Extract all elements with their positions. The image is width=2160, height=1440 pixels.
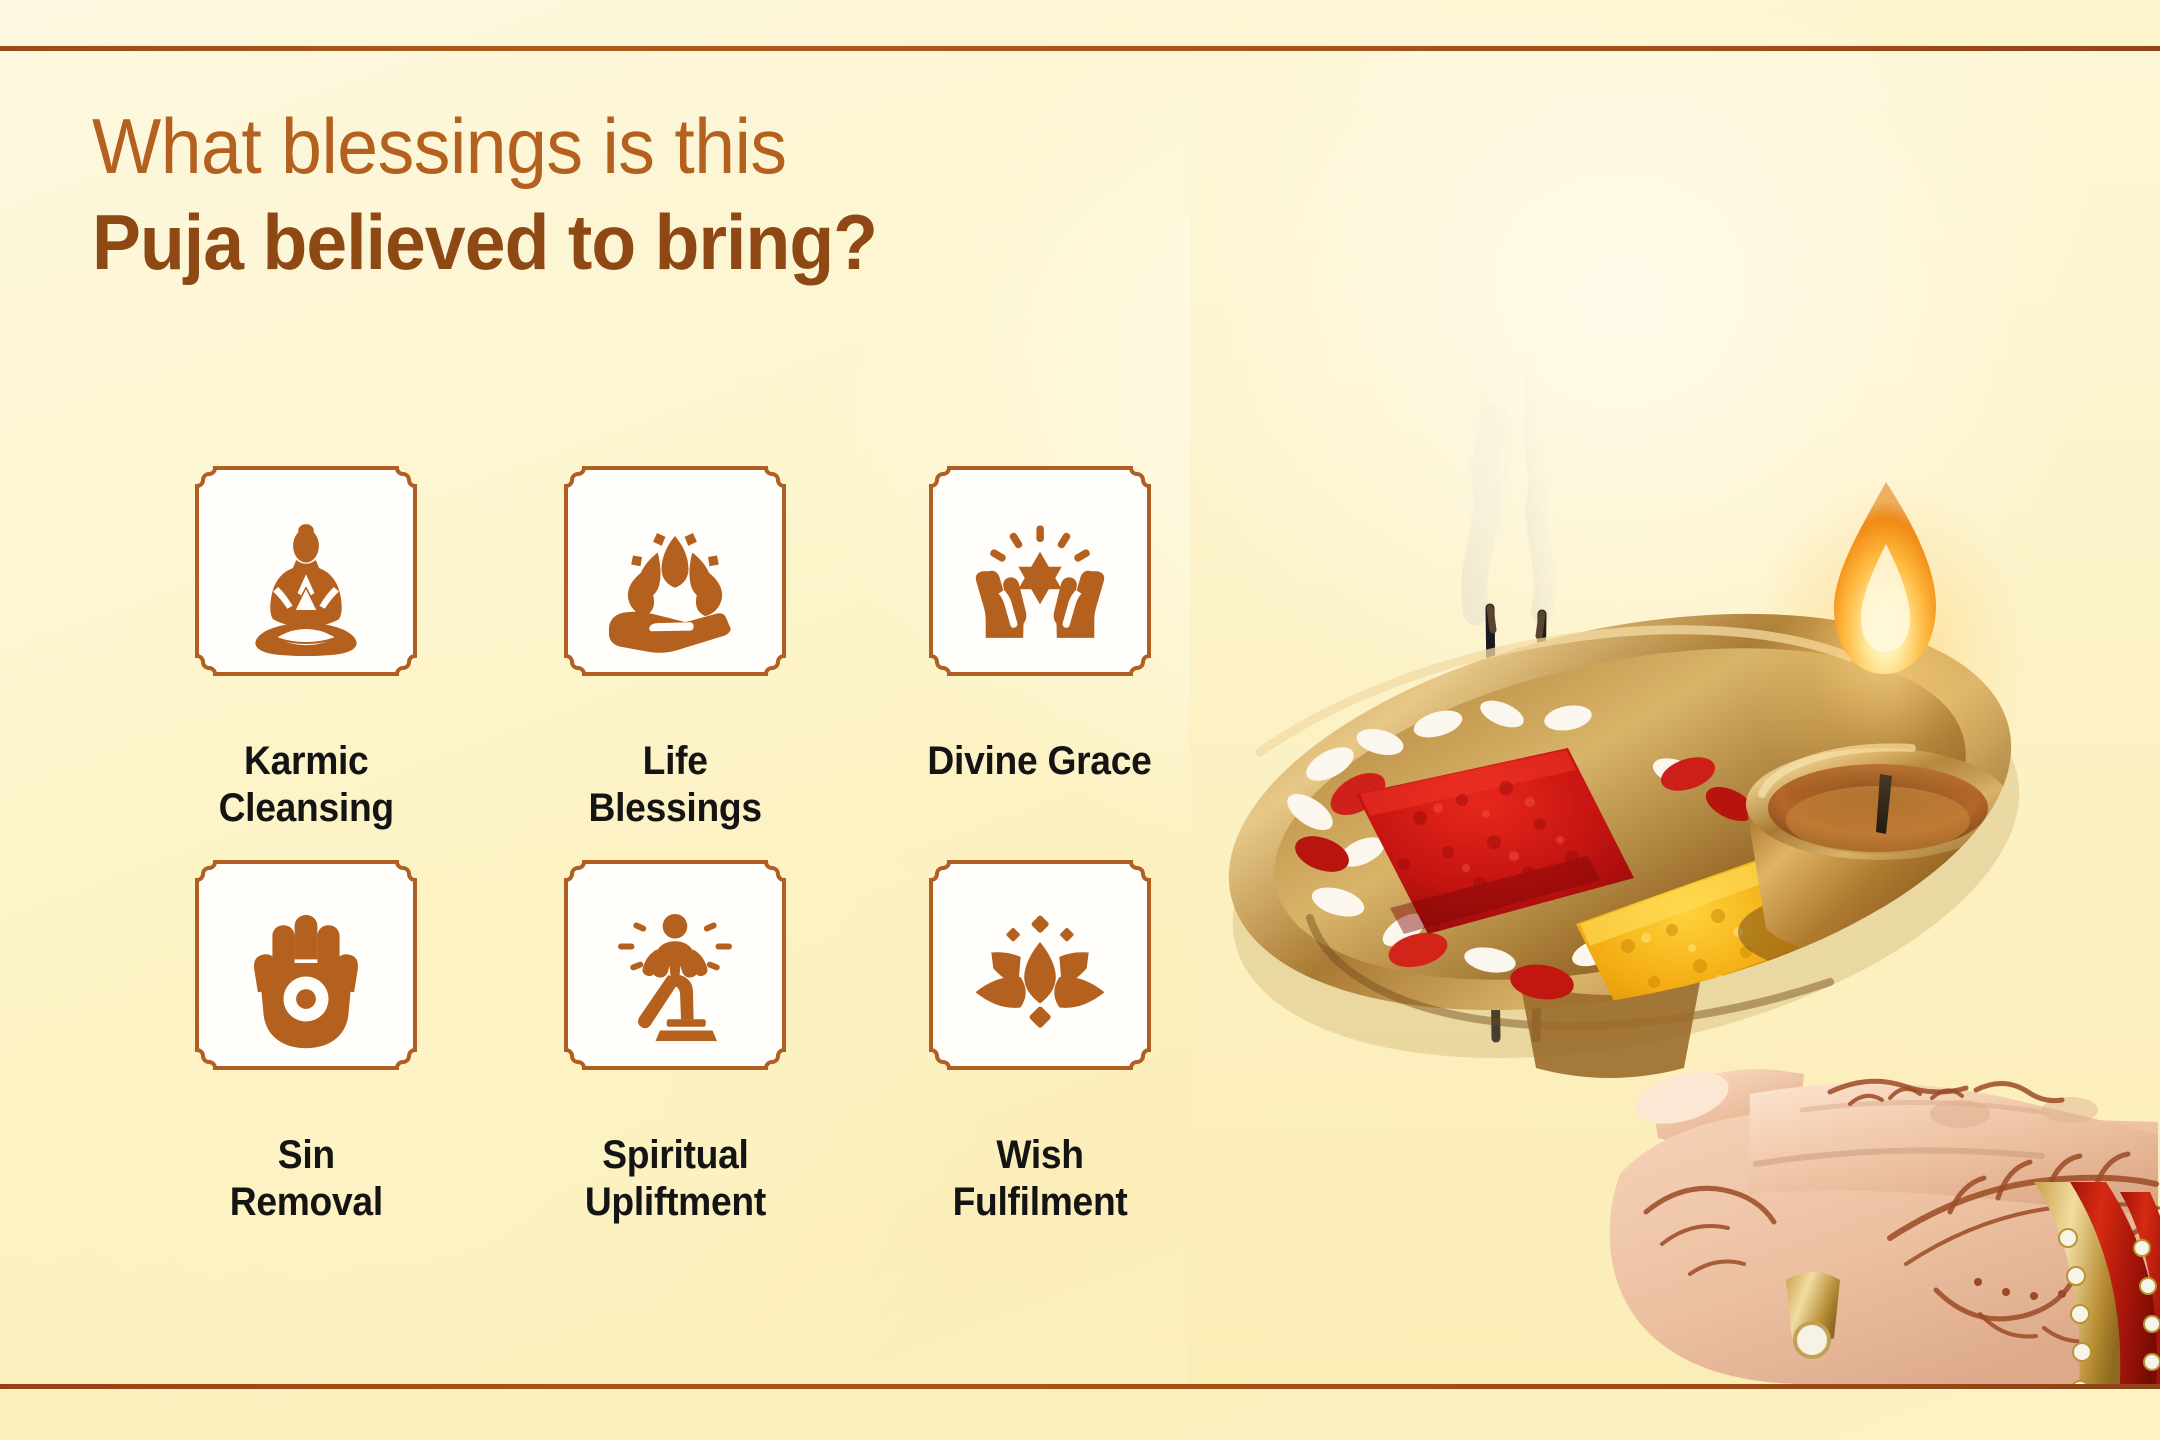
blessing-card[interactable] [548,856,802,1106]
blessing-item-wish-fulfilment[interactable]: Wish Fulfilment [857,856,1222,1226]
blessing-label-line-1: Sin [230,1132,383,1179]
blessing-label: Karmic Cleansing [219,738,394,832]
lotus-sparkle-icon [965,906,1115,1056]
blessing-item-divine-grace[interactable]: Divine Grace [857,462,1222,832]
blessing-item-spiritual-upliftment[interactable]: Spiritual Upliftment [493,856,858,1226]
blessing-label-line-2: Cleansing [219,785,394,832]
meditating-person-icon [231,512,381,662]
blessing-label-line-1: Wish [952,1132,1127,1179]
incense-smoke [1474,300,1545,612]
blessing-card[interactable] [913,462,1167,712]
hamsa-hand-icon [231,906,381,1056]
blessing-item-karmic-cleansing[interactable]: Karmic Cleansing [124,462,489,832]
blessing-item-life-blessings[interactable]: Life Blessings [493,462,858,832]
blessing-label-line-2: Removal [230,1179,383,1226]
blessing-label-line-1: Life [588,738,761,785]
heading-line-1: What blessings is this [92,102,1107,190]
blessing-label-line-2: Upliftment [584,1179,765,1226]
infographic-canvas: What blessings is this Puja believed to … [0,0,2160,1440]
bottom-divider-rule [0,1384,2160,1389]
blessing-label: Life Blessings [588,738,761,832]
page-title: What blessings is this Puja believed to … [92,102,1172,288]
blessing-item-sin-removal[interactable]: Sin Removal [124,856,489,1226]
blessing-card[interactable] [179,856,433,1106]
blessing-card[interactable] [913,856,1167,1106]
blessing-label-line-1: Divine Grace [928,738,1152,785]
hand-holding-thali [1610,1063,2160,1384]
diya-flame [1746,476,2026,836]
blessing-card[interactable] [179,462,433,712]
blessing-label-line-1: Spiritual [584,1132,765,1179]
blessing-label-line-1: Karmic [219,738,394,785]
blessing-label: Wish Fulfilment [952,1132,1127,1226]
blessing-label: Spiritual Upliftment [584,1132,765,1226]
blessing-label: Sin Removal [230,1132,383,1226]
puja-thali-photo [1190,52,2160,1384]
blessings-grid: Karmic Cleansing [92,462,1222,1226]
blessings-row-1: Karmic Cleansing [92,462,1222,832]
radiant-person-pedestal-icon [600,906,750,1056]
blessings-row-2: Sin Removal [92,856,1222,1226]
top-divider-rule [0,46,2160,51]
heading-line-2: Puja believed to bring? [92,196,1107,288]
blessing-label: Divine Grace [928,738,1152,785]
blessing-label-line-2: Fulfilment [952,1179,1127,1226]
blessing-label-line-2: Blessings [588,785,761,832]
blessing-card[interactable] [548,462,802,712]
hands-holding-star-icon [965,512,1115,662]
hand-holding-lotus-icon [600,512,750,662]
